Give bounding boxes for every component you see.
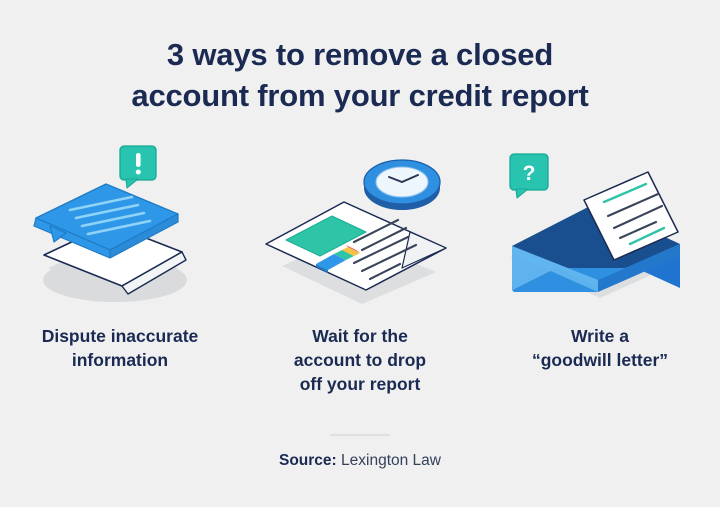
- caption-goodwill-line-2: “goodwill letter”: [490, 348, 710, 372]
- caption-wait-line-2: account to drop: [250, 348, 470, 372]
- caption-wait-line-3: off your report: [250, 372, 470, 396]
- footer-divider: [330, 434, 390, 436]
- caption-goodwill-line-1: Write a: [490, 324, 710, 348]
- goodwill-illustration-svg: ?: [490, 140, 710, 320]
- envelope-letter-illustration: ?: [490, 140, 710, 320]
- title-line-1: 3 ways to remove a closed: [0, 34, 720, 75]
- report-with-clock-illustration: [250, 140, 470, 320]
- infographic-canvas: 3 ways to remove a closed account from y…: [0, 0, 720, 507]
- svg-text:?: ?: [523, 162, 536, 185]
- question-badge: ?: [510, 154, 548, 198]
- method-column-wait: Wait for the account to drop off your re…: [240, 140, 480, 430]
- caption-dispute: Dispute inaccurate information: [10, 324, 230, 372]
- clock-icon: [364, 160, 440, 210]
- method-column-goodwill: ? Write a “goodwill letter”: [480, 140, 720, 430]
- caption-goodwill: Write a “goodwill letter”: [490, 324, 710, 372]
- source-label: Source:: [279, 452, 337, 469]
- source-attribution: Source: Lexington Law: [0, 452, 720, 470]
- caption-wait-line-1: Wait for the: [250, 324, 470, 348]
- caption-dispute-line-2: information: [10, 348, 230, 372]
- methods-row: Dispute inaccurate information: [0, 140, 720, 430]
- source-value: Lexington Law: [337, 452, 441, 469]
- dispute-illustration-svg: [10, 140, 230, 320]
- caption-wait: Wait for the account to drop off your re…: [250, 324, 470, 396]
- speech-bubble-document-illustration: [10, 140, 230, 320]
- wait-illustration-svg: [250, 140, 470, 320]
- method-column-dispute: Dispute inaccurate information: [0, 140, 240, 430]
- caption-dispute-line-1: Dispute inaccurate: [10, 324, 230, 348]
- title-line-2: account from your credit report: [0, 75, 720, 116]
- exclamation-badge: [120, 146, 156, 188]
- page-title: 3 ways to remove a closed account from y…: [0, 34, 720, 116]
